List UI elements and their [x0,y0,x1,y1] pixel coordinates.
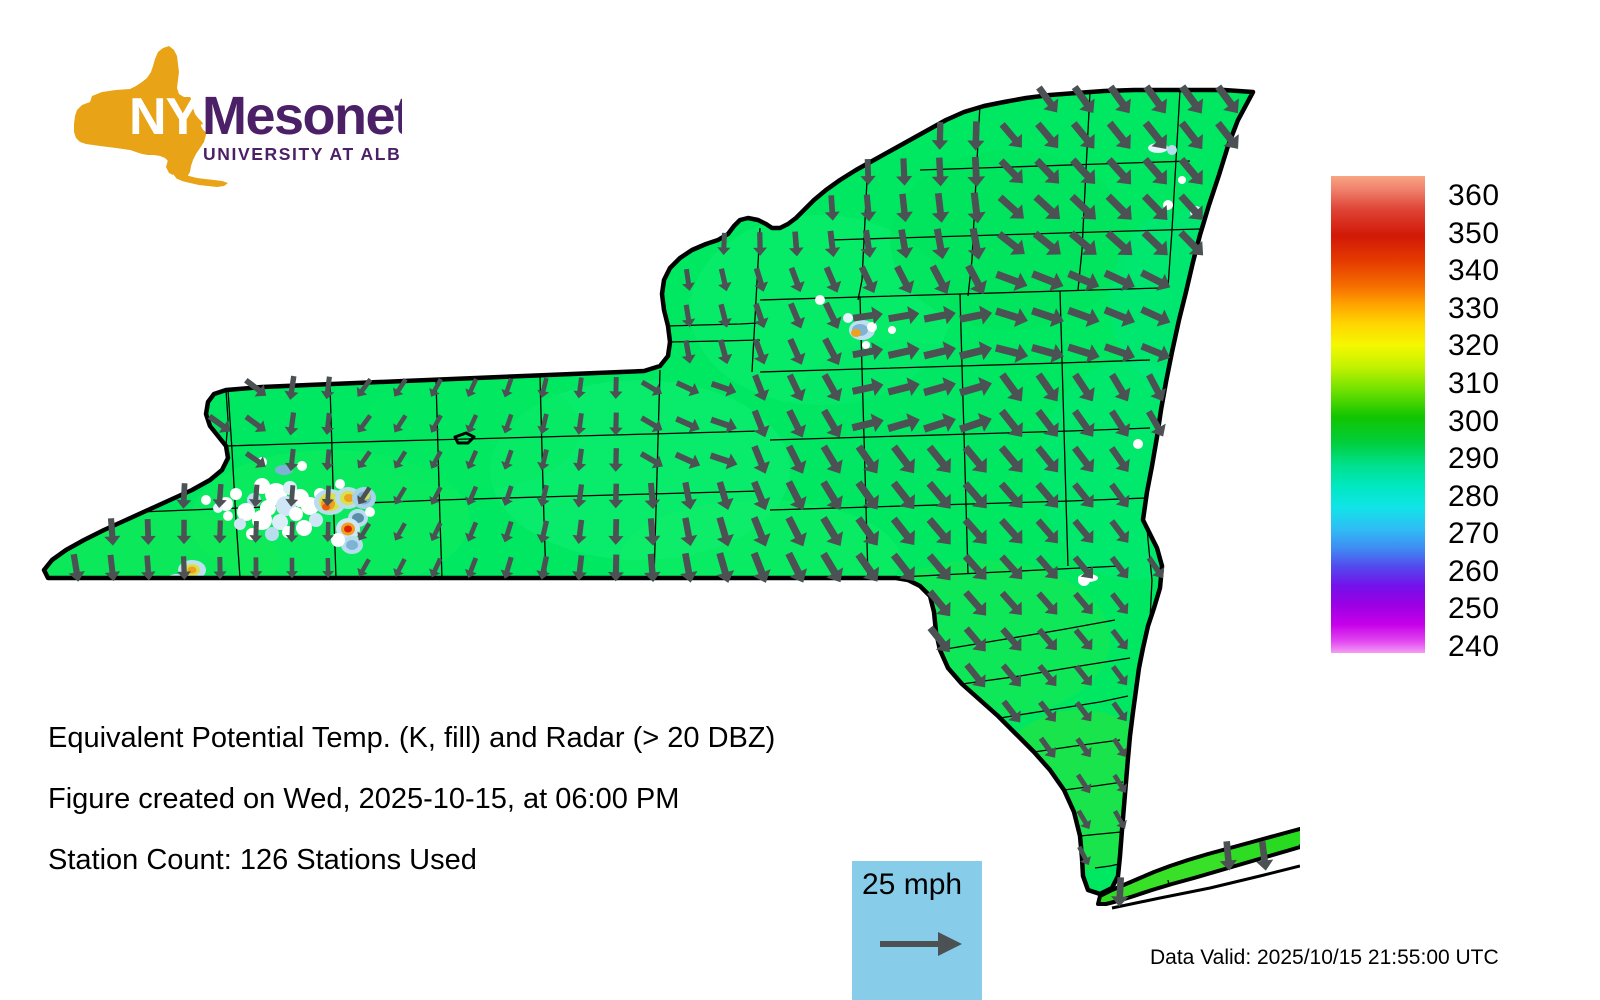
caption-created: Figure created on Wed, 2025-10-15, at 06… [48,782,679,816]
colorbar-tick-240: 240 [1448,632,1500,662]
colorbar-tick-340: 340 [1448,256,1500,286]
arrow-right-icon [878,929,966,959]
data-valid-timestamp: Data Valid: 2025/10/15 21:55:00 UTC [1150,946,1499,970]
colorbar [1331,176,1425,653]
colorbar-tick-320: 320 [1448,331,1500,361]
caption-station-count: Station Count: 126 Stations Used [48,843,477,877]
colorbar-tick-260: 260 [1448,557,1500,587]
colorbar-tick-300: 300 [1448,407,1500,437]
colorbar-tick-290: 290 [1448,444,1500,474]
colorbar-tick-280: 280 [1448,482,1500,512]
wind-speed-legend: 25 mph [852,861,982,1000]
colorbar-tick-270: 270 [1448,519,1500,549]
colorbar-tick-250: 250 [1448,594,1500,624]
colorbar-tick-labels: 360350340330320310300290280270260250240 [1448,176,1578,653]
colorbar-gradient [1331,176,1425,653]
colorbar-tick-360: 360 [1448,181,1500,211]
weather-map [0,0,1300,960]
colorbar-tick-350: 350 [1448,219,1500,249]
caption-title: Equivalent Potential Temp. (K, fill) and… [48,721,775,755]
map-svg [0,0,1300,960]
wind-legend-label: 25 mph [862,868,962,902]
colorbar-tick-310: 310 [1448,369,1500,399]
colorbar-tick-330: 330 [1448,294,1500,324]
